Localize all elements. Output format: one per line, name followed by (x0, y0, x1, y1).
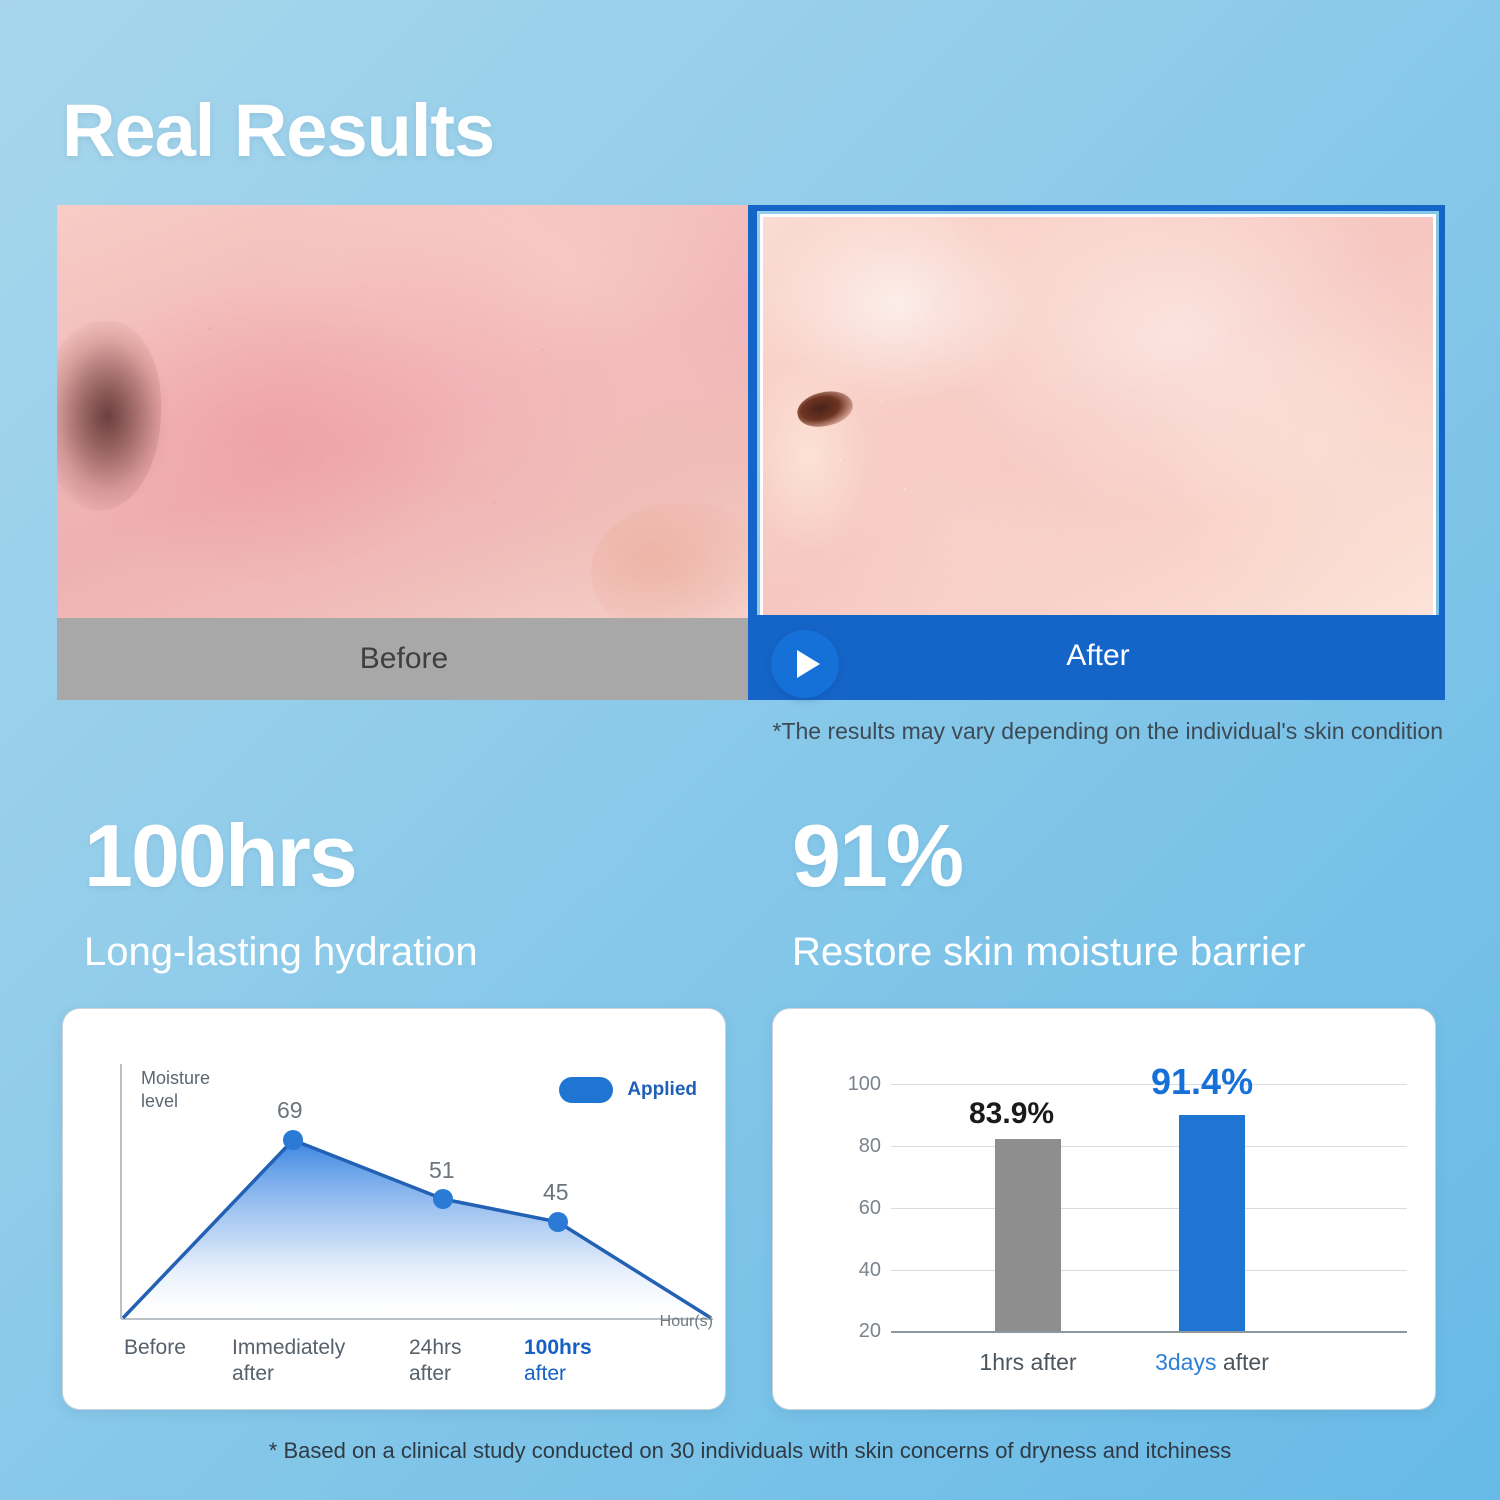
skin-image-after (763, 217, 1433, 615)
bar-1hrs-after (995, 1139, 1061, 1331)
play-icon[interactable] (771, 630, 839, 698)
barrier-chart-card: 100 80 60 40 20 83.9% 91.4% 1hrs after 3… (772, 1008, 1436, 1410)
y-tick-100: 100 (835, 1073, 881, 1096)
moisture-area-chart: Moisture level Applied (63, 1009, 725, 1409)
y-tick-60: 60 (835, 1197, 881, 1220)
x-label-before: Before (124, 1335, 186, 1361)
gridline-60 (891, 1208, 1407, 1209)
results-disclaimer: *The results may vary depending on the i… (773, 718, 1444, 745)
play-triangle (797, 650, 820, 678)
stat-barrier: 91% Restore skin moisture barrier (792, 812, 1306, 974)
bar-value-label-2: 91.4% (1151, 1061, 1253, 1103)
bar-value-label-1: 83.9% (969, 1097, 1054, 1131)
y-tick-20: 20 (835, 1320, 881, 1343)
x-label-100hrs-after: 100hrs after (524, 1335, 592, 1388)
bar-x-label-2: 3days after (1132, 1349, 1292, 1376)
x-axis-labels: Before Immediately after 24hrs after 100… (119, 1327, 715, 1397)
bar-x-label-1: 1hrs after (948, 1349, 1108, 1376)
stat-hydration-number: 100hrs (84, 812, 478, 900)
x-label-immediately-after: Immediately after (232, 1335, 345, 1388)
y-tick-40: 40 (835, 1259, 881, 1282)
axis-baseline (891, 1331, 1407, 1333)
page-title: Real Results (62, 94, 494, 168)
clinical-study-footnote: * Based on a clinical study conducted on… (0, 1438, 1500, 1464)
before-label: Before (57, 618, 751, 700)
point-label-3: 45 (543, 1179, 569, 1206)
gridline-100 (891, 1084, 1407, 1085)
y-tick-80: 80 (835, 1135, 881, 1158)
gridline-40 (891, 1270, 1407, 1271)
after-panel: After (751, 205, 1445, 700)
before-after-comparison: Before After (57, 205, 1445, 700)
x-label-24hrs-after: 24hrs after (409, 1335, 462, 1388)
stat-barrier-caption: Restore skin moisture barrier (792, 930, 1306, 974)
before-photo (57, 205, 751, 618)
stat-barrier-number: 91% (792, 812, 1306, 900)
gridline-80 (891, 1146, 1407, 1147)
hydration-chart-card: Moisture level Applied (62, 1008, 726, 1410)
bar-3days-after (1179, 1115, 1245, 1331)
point-label-2: 51 (429, 1157, 455, 1184)
stat-hydration: 100hrs Long-lasting hydration (84, 812, 478, 974)
point-label-1: 69 (277, 1097, 303, 1124)
moisture-barrier-bar-chart: 100 80 60 40 20 83.9% 91.4% 1hrs after 3… (773, 1009, 1435, 1409)
after-photo (760, 214, 1436, 618)
after-label: After (754, 615, 1442, 697)
stat-hydration-caption: Long-lasting hydration (84, 930, 478, 974)
before-panel: Before (57, 205, 751, 700)
comparison-divider (748, 205, 754, 700)
